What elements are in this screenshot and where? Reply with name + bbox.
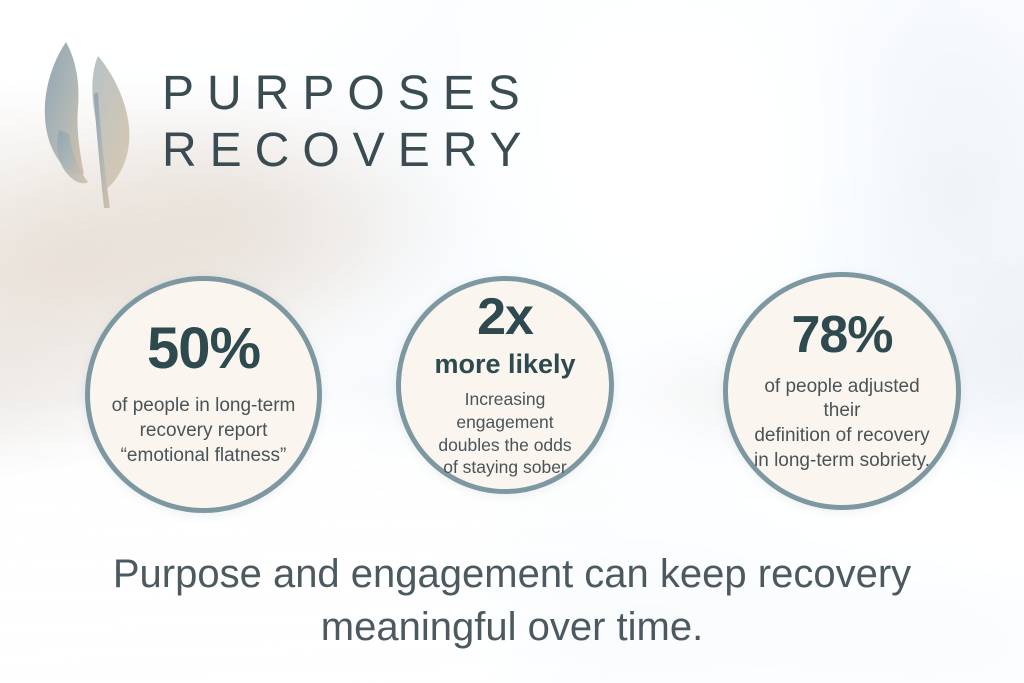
stat-body-line: in long-term sobriety. [744, 449, 940, 474]
stat-body-line: definition of recovery [744, 424, 940, 449]
stat-body-line: of people adjusted their [744, 375, 940, 424]
stat-body-line: Increasing engagement [417, 388, 593, 434]
brand-logo: PURPOSES RECOVERY [36, 30, 535, 214]
stat-circle-2: 2x more likely Increasing engagement dou… [396, 276, 614, 494]
stat-number-1: 50% [147, 320, 260, 378]
stat-number-2: 2x [477, 291, 533, 343]
caption-line-1: Purpose and engagement can keep recovery [70, 548, 954, 601]
stat-circle-3: 78% of people adjusted their definition … [723, 272, 961, 510]
brand-name-line-1: PURPOSES [162, 66, 535, 123]
stat-circle-1: 50% of people in long-term recovery repo… [85, 276, 322, 513]
brand-wordmark: PURPOSES RECOVERY [162, 66, 535, 179]
stat-body-line: doubles the odds [417, 434, 593, 457]
stat-body-1: of people in long-term recovery report “… [112, 394, 296, 468]
stat-body-line: recovery report [112, 419, 296, 444]
stat-body-2: Increasing engagement doubles the odds o… [417, 388, 593, 479]
stat-body-line: “emotional flatness” [112, 444, 296, 469]
stat-body-line: of people in long-term [112, 394, 296, 419]
stat-subtitle-2: more likely [434, 349, 575, 380]
stat-body-line: of staying sober [417, 456, 593, 479]
caption-line-2: meaningful over time. [70, 601, 954, 654]
feather-icon [36, 34, 154, 214]
stat-body-3: of people adjusted their definition of r… [744, 375, 940, 474]
infographic-canvas: PURPOSES RECOVERY 50% of people in long-… [0, 0, 1024, 683]
stat-number-3: 78% [791, 309, 892, 361]
brand-name-line-2: RECOVERY [162, 123, 535, 180]
caption: Purpose and engagement can keep recovery… [0, 548, 1024, 654]
